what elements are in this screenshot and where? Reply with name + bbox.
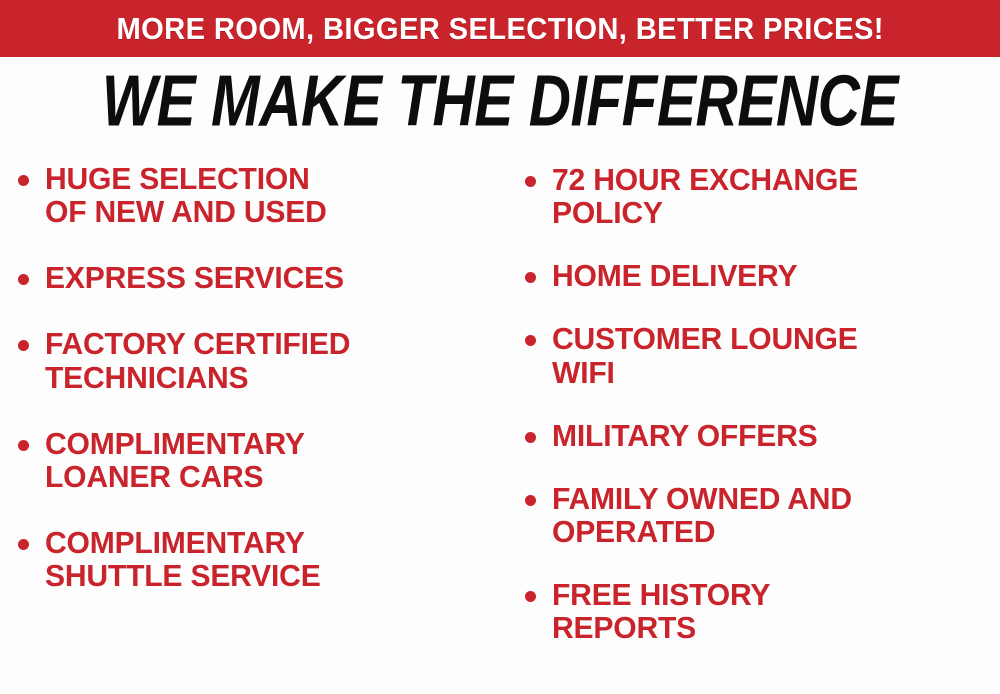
list-item-label: EXPRESS SERVICES xyxy=(45,261,491,294)
list-item: MILITARY OFFERS xyxy=(525,419,1000,452)
benefits-columns: HUGE SELECTION OF NEW AND USED EXPRESS S… xyxy=(0,148,1000,694)
promo-banner: MORE ROOM, BIGGER SELECTION, BETTER PRIC… xyxy=(0,0,1000,57)
bullet-dot-icon xyxy=(525,591,536,602)
list-item: HOME DELIVERY xyxy=(525,259,1000,292)
page-title: WE MAKE THE DIFFERENCE xyxy=(102,65,898,137)
list-item: CUSTOMER LOUNGE WIFI xyxy=(525,322,1000,388)
list-item: FAMILY OWNED AND OPERATED xyxy=(525,482,1000,548)
list-item: 72 HOUR EXCHANGE POLICY xyxy=(525,163,1000,229)
list-item-label: COMPLIMENTARY LOANER CARS xyxy=(45,427,491,493)
bullet-dot-icon xyxy=(525,176,536,187)
list-item-label: 72 HOUR EXCHANGE POLICY xyxy=(552,163,987,229)
list-item: FACTORY CERTIFIED TECHNICIANS xyxy=(18,327,505,393)
bullet-dot-icon xyxy=(525,495,536,506)
list-item-label: HUGE SELECTION OF NEW AND USED xyxy=(45,162,491,228)
list-item-label: CUSTOMER LOUNGE WIFI xyxy=(552,322,987,388)
list-item-label: HOME DELIVERY xyxy=(552,259,987,292)
list-item-label: FACTORY CERTIFIED TECHNICIANS xyxy=(45,327,491,393)
list-item: HUGE SELECTION OF NEW AND USED xyxy=(18,162,505,228)
promo-banner-text: MORE ROOM, BIGGER SELECTION, BETTER PRIC… xyxy=(116,13,883,44)
bullet-dot-icon xyxy=(18,440,29,451)
bullet-dot-icon xyxy=(18,175,29,186)
dealership-ad-banner: MORE ROOM, BIGGER SELECTION, BETTER PRIC… xyxy=(0,0,1000,694)
bullet-dot-icon xyxy=(525,432,536,443)
bullet-dot-icon xyxy=(525,335,536,346)
list-item-label: MILITARY OFFERS xyxy=(552,419,987,452)
list-item: COMPLIMENTARY LOANER CARS xyxy=(18,427,505,493)
bullet-dot-icon xyxy=(18,539,29,550)
list-item: EXPRESS SERVICES xyxy=(18,261,505,294)
list-item-label: FREE HISTORY REPORTS xyxy=(552,578,987,644)
bullet-dot-icon xyxy=(18,274,29,285)
list-item: COMPLIMENTARY SHUTTLE SERVICE xyxy=(18,526,505,592)
bullet-dot-icon xyxy=(18,340,29,351)
benefits-column-right: 72 HOUR EXCHANGE POLICY HOME DELIVERY CU… xyxy=(505,148,1000,694)
headline-container: WE MAKE THE DIFFERENCE xyxy=(0,62,1000,140)
benefits-column-left: HUGE SELECTION OF NEW AND USED EXPRESS S… xyxy=(0,148,505,694)
list-item-label: FAMILY OWNED AND OPERATED xyxy=(552,482,987,548)
bullet-dot-icon xyxy=(525,272,536,283)
list-item: FREE HISTORY REPORTS xyxy=(525,578,1000,644)
list-item-label: COMPLIMENTARY SHUTTLE SERVICE xyxy=(45,526,491,592)
